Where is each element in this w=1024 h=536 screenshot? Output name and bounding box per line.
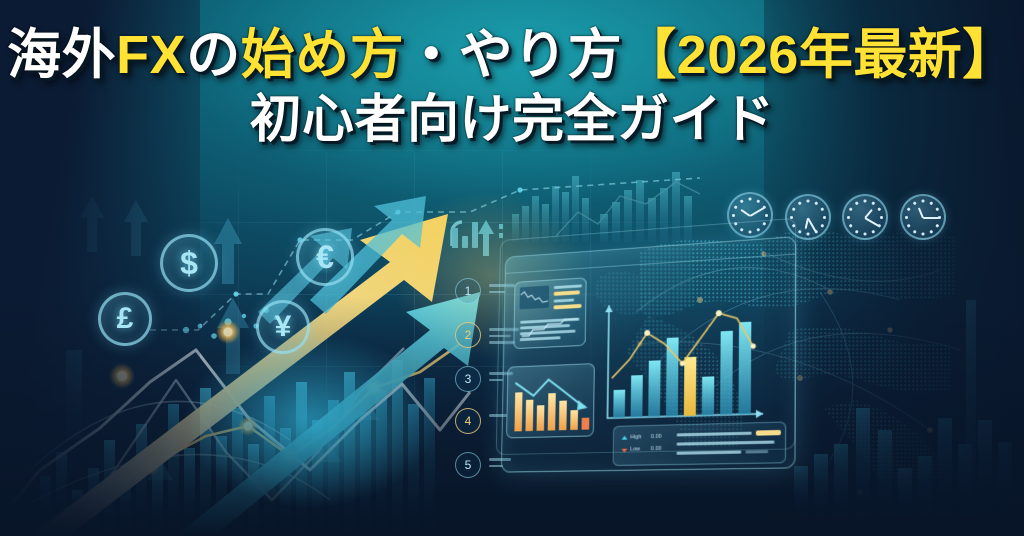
title-segment-4: ・やり方 xyxy=(404,25,622,85)
low-label: Low xyxy=(630,446,640,452)
euro-icon: € xyxy=(296,228,354,286)
low-down-icon xyxy=(621,449,627,453)
title-line-1: 海外FXの始め方・やり方【2026年最新】 xyxy=(0,28,1024,82)
step-number-4[interactable]: 4 xyxy=(455,408,481,434)
world-clock-4-icon xyxy=(900,194,946,240)
title-segment-0: 海外 xyxy=(7,25,116,85)
title-block: 海外FXの始め方・やり方【2026年最新】 初心者向け完全ガイド xyxy=(0,28,1024,146)
high-label: High xyxy=(630,434,641,440)
japanese-yen-icon: ¥ xyxy=(256,300,310,354)
low-value: 0.00 xyxy=(651,446,662,452)
world-clock-3-icon xyxy=(842,194,888,240)
title-line-2: 初心者向け完全ガイド xyxy=(0,94,1024,146)
title-segment-5: 【2026年最新】 xyxy=(622,25,1017,85)
step-number-3[interactable]: 3 xyxy=(455,366,481,392)
title-segment-3: 始め方 xyxy=(241,25,405,85)
high-value: 0.00 xyxy=(651,434,662,440)
chart-legend: High 0.00 Low 0.00 xyxy=(613,421,787,466)
high-up-icon xyxy=(622,436,628,440)
trading-dashboard[interactable]: High 0.00 Low 0.00 xyxy=(501,236,796,472)
british-pound-icon: £ xyxy=(98,292,152,346)
step-number-5[interactable]: 5 xyxy=(455,452,481,478)
banner-canvas: $£€¥ 12345 xyxy=(0,0,1024,536)
title-segment-1: FX xyxy=(116,25,186,85)
title-segment-2: の xyxy=(186,25,241,85)
step-number-1[interactable]: 1 xyxy=(455,278,481,304)
step-number-2[interactable]: 2 xyxy=(455,322,481,348)
us-dollar-icon: $ xyxy=(160,234,218,292)
